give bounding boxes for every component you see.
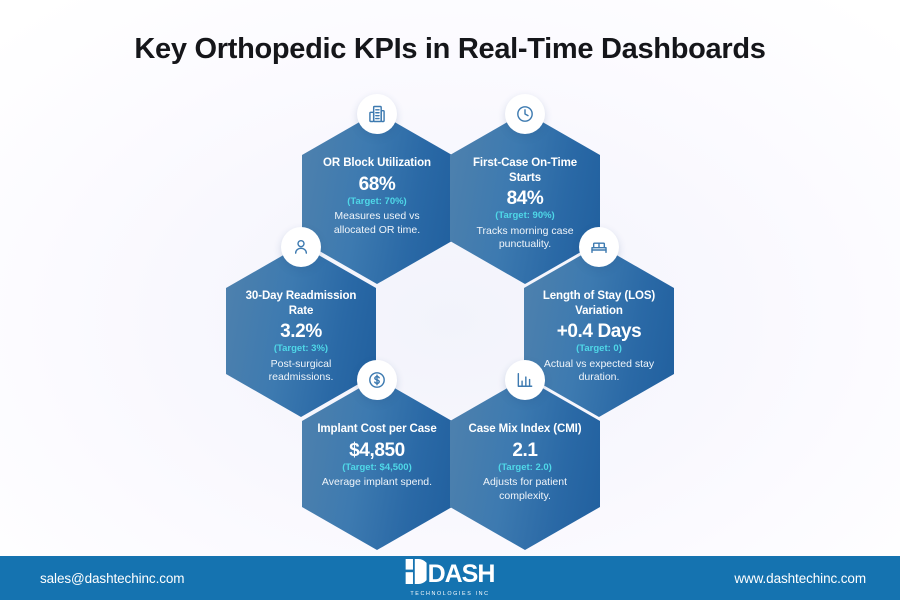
clock-icon bbox=[505, 94, 545, 134]
kpi-value: 3.2% bbox=[280, 321, 322, 343]
kpi-description: Adjusts for patient complexity. bbox=[461, 476, 589, 503]
kpi-hex-ring: OR Block Utilization 68% (Target: 70%) M… bbox=[0, 0, 900, 548]
kpi-target: (Target: $4,500) bbox=[342, 462, 412, 473]
hex-content: Case Mix Index (CMI) 2.1 (Target: 2.0) A… bbox=[450, 378, 600, 550]
kpi-value: 2.1 bbox=[512, 440, 537, 462]
kpi-hex-implant-cost-per-case[interactable]: Implant Cost per Case $4,850 (Target: $4… bbox=[302, 378, 452, 550]
kpi-label: OR Block Utilization bbox=[323, 156, 431, 171]
kpi-value: 84% bbox=[507, 188, 544, 210]
hospital-bed-icon bbox=[579, 227, 619, 267]
kpi-label: Implant Cost per Case bbox=[317, 422, 436, 437]
kpi-value: 68% bbox=[359, 174, 396, 196]
kpi-target: (Target: 3%) bbox=[274, 343, 328, 354]
dollar-circle-icon bbox=[357, 360, 397, 400]
kpi-description: Average implant spend. bbox=[322, 476, 432, 489]
hospital-building-icon bbox=[357, 94, 397, 134]
infographic-page: Key Orthopedic KPIs in Real-Time Dashboa… bbox=[0, 0, 900, 600]
footer-url[interactable]: www.dashtechinc.com bbox=[734, 571, 866, 586]
kpi-label: Case Mix Index (CMI) bbox=[468, 422, 581, 437]
kpi-target: (Target: 70%) bbox=[347, 196, 406, 207]
kpi-target: (Target: 0) bbox=[576, 343, 622, 354]
kpi-target: (Target: 2.0) bbox=[498, 462, 552, 473]
kpi-hex-case-mix-index[interactable]: Case Mix Index (CMI) 2.1 (Target: 2.0) A… bbox=[450, 378, 600, 550]
kpi-label: First-Case On-Time Starts bbox=[461, 156, 589, 185]
kpi-description: Measures used vs allocated OR time. bbox=[313, 210, 441, 237]
bar-chart-icon bbox=[505, 360, 545, 400]
footer-bar: sales@dashtechinc.com DASH TECHNOLOGIES … bbox=[0, 556, 900, 600]
kpi-value: +0.4 Days bbox=[557, 321, 642, 343]
kpi-label: Length of Stay (LOS) Variation bbox=[535, 289, 663, 318]
kpi-value: $4,850 bbox=[349, 440, 405, 462]
logo-wordmark: DASH bbox=[428, 562, 495, 587]
dash-logo-mark-icon bbox=[406, 559, 427, 589]
kpi-target: (Target: 90%) bbox=[495, 210, 554, 221]
footer-email[interactable]: sales@dashtechinc.com bbox=[40, 571, 184, 586]
logo-tagline: TECHNOLOGIES INC bbox=[410, 591, 489, 597]
hex-content: Implant Cost per Case $4,850 (Target: $4… bbox=[302, 378, 452, 550]
person-icon bbox=[281, 227, 321, 267]
logo-row: DASH bbox=[406, 559, 495, 589]
kpi-label: 30-Day Readmission Rate bbox=[237, 289, 365, 318]
dash-logo: DASH TECHNOLOGIES INC bbox=[406, 559, 495, 597]
